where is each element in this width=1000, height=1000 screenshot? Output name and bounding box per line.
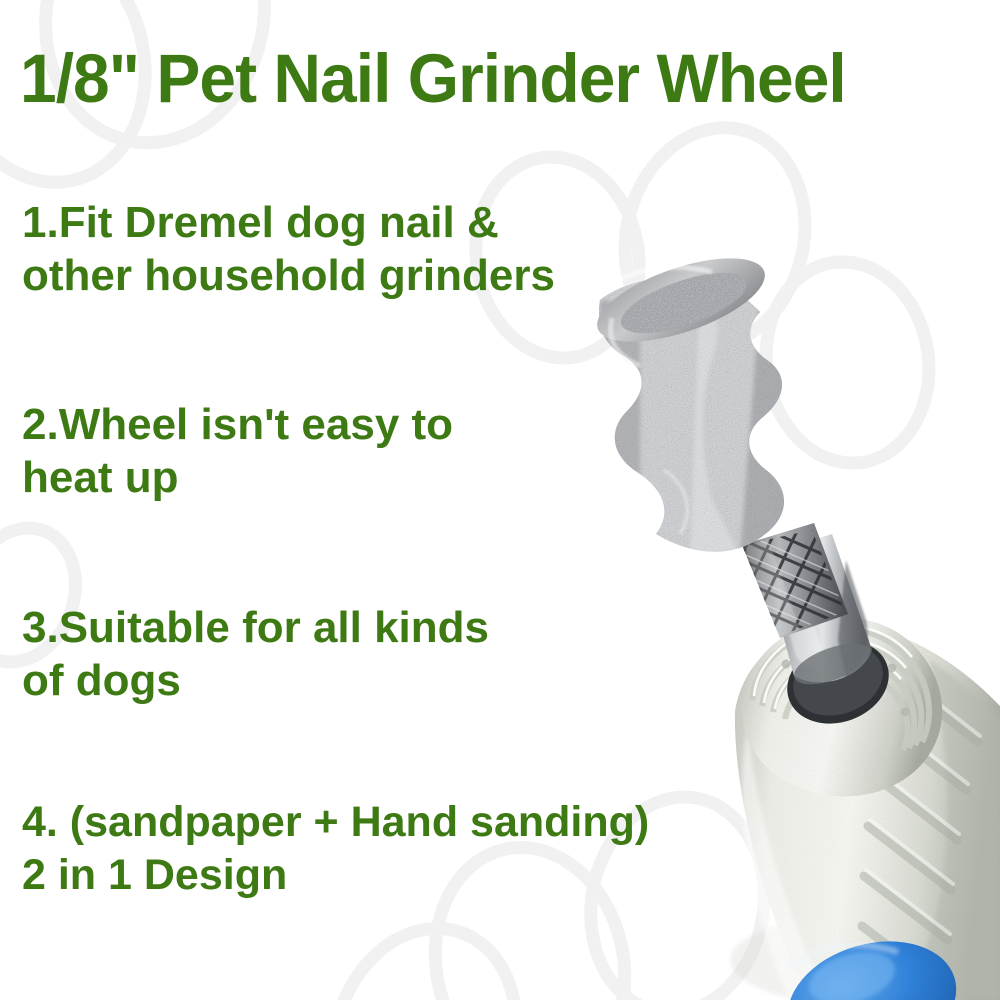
feature-2-line-1: 2.Wheel isn't easy to bbox=[22, 398, 453, 451]
feature-4-line-1: 4. (sandpaper + Hand sanding) bbox=[22, 796, 649, 849]
copy-layer: 1/8" Pet Nail Grinder Wheel 1.Fit Dremel… bbox=[0, 0, 1000, 1000]
feature-3-line-1: 3.Suitable for all kinds bbox=[22, 601, 489, 654]
feature-item-4: 4. (sandpaper + Hand sanding) 2 in 1 Des… bbox=[22, 796, 649, 902]
feature-2-line-2: heat up bbox=[22, 451, 453, 504]
feature-item-3: 3.Suitable for all kinds of dogs bbox=[22, 601, 489, 707]
feature-4-line-2: 2 in 1 Design bbox=[22, 849, 649, 902]
feature-item-2: 2.Wheel isn't easy to heat up bbox=[22, 398, 453, 504]
feature-1-line-2: other household grinders bbox=[22, 249, 555, 302]
feature-1-line-1: 1.Fit Dremel dog nail & bbox=[22, 196, 555, 249]
feature-item-1: 1.Fit Dremel dog nail & other household … bbox=[22, 196, 555, 302]
feature-3-line-2: of dogs bbox=[22, 654, 489, 707]
page-title: 1/8" Pet Nail Grinder Wheel bbox=[20, 44, 937, 114]
product-infographic: 1/8" Pet Nail Grinder Wheel 1.Fit Dremel… bbox=[0, 0, 1000, 1000]
